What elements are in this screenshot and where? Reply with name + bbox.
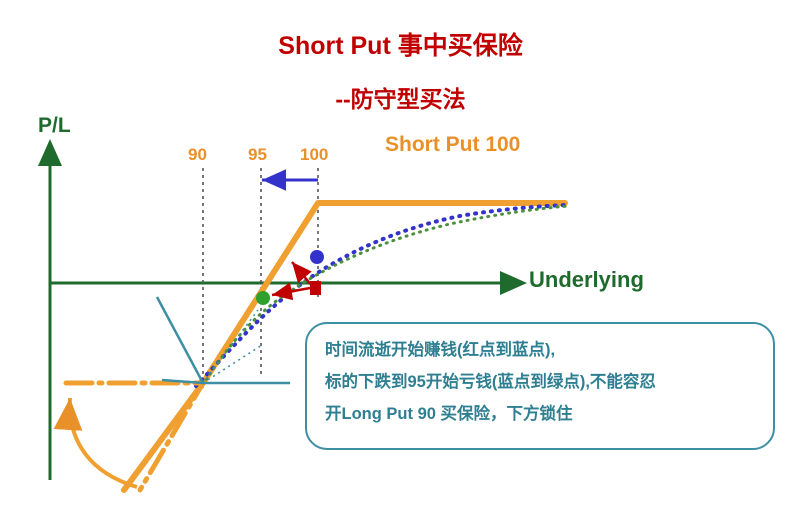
strike-tick-100: 100 [300,145,328,165]
marker-blue-point [310,250,324,264]
series-label-short-put-100: Short Put 100 [385,133,520,157]
callout-line-3: 开Long Put 90 买保险，下方锁住 [307,400,777,424]
x-axis-label: Underlying [529,267,644,293]
diagram-canvas: Short Put 事中买保险 --防守型买法 P/L Underlying S… [0,0,801,531]
callout-line-1: 时间流逝开始赚钱(红点到蓝点), [307,336,777,360]
orange-curved-arrow [70,398,137,487]
strike-tick-90: 90 [188,145,207,165]
title-line-1: Short Put 事中买保险 [0,26,801,62]
marker-red-point [310,281,321,295]
marker-green-point [256,291,270,305]
y-axis-label: P/L [38,114,71,138]
callout-line-2: 标的下跌到95开始亏钱(蓝点到绿点),不能容忍 [307,368,777,392]
title-line-2: --防守型买法 [0,80,801,114]
strike-tick-95: 95 [248,145,267,165]
annotation-callout: 时间流逝开始赚钱(红点到蓝点), 标的下跌到95开始亏钱(蓝点到绿点),不能容忍… [305,322,775,450]
